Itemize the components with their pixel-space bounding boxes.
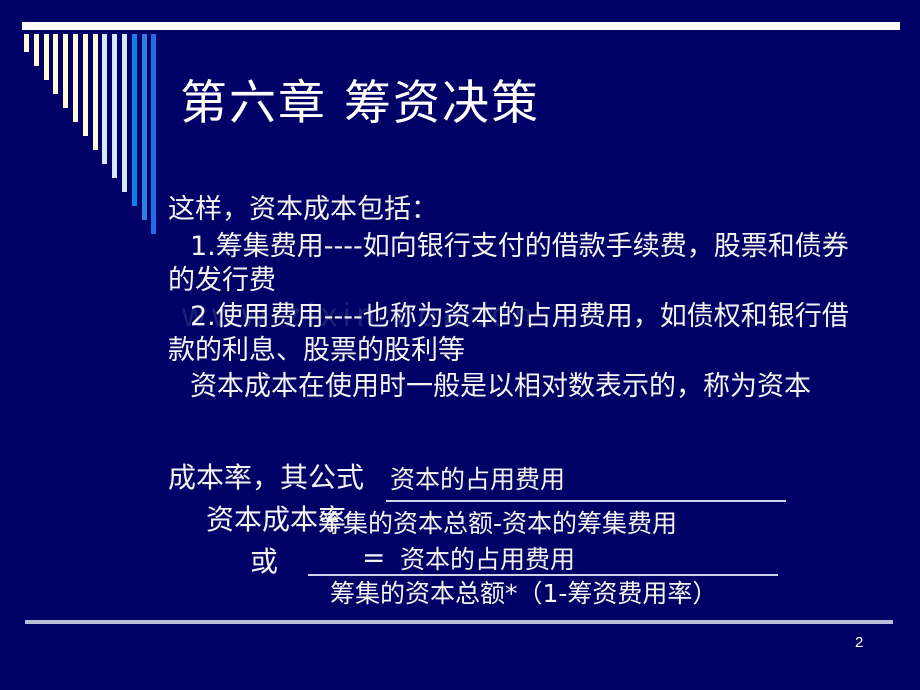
- formula-2-fraction-rule: [308, 574, 778, 576]
- decorative-bar: [53, 34, 58, 94]
- decorative-bar: [93, 34, 98, 150]
- bottom-divider-rule: [25, 620, 893, 624]
- formula-or-label: 或: [250, 546, 278, 578]
- body-item-3: 资本成本在使用时一般是以相对数表示的，称为资本: [168, 370, 868, 404]
- body-item-2: 2.使用费用----也称为资本的占用费用，如债权和银行借款的利息、股票的股利等: [168, 300, 868, 368]
- body-lead-line: 这样，资本成本包括：: [168, 192, 868, 228]
- slide-canvas: 第六章 筹资决策 www.zixin.com.cn 这样，资本成本包括： 1.筹…: [0, 0, 920, 690]
- formula-region: 成本率，其公式 资本的占用费用 资本成本率 筹集的资本总额-资本的筹集费用 或 …: [168, 462, 908, 622]
- decorative-bar: [34, 34, 39, 66]
- formula-1-numerator: 资本的占用费用: [390, 464, 565, 496]
- page-number: 2: [855, 634, 863, 651]
- formula-2-numerator: 资本的占用费用: [400, 544, 575, 576]
- slide-body: 这样，资本成本包括： 1.筹集费用----如向银行支付的借款手续费，股票和债券的…: [168, 192, 868, 404]
- formula-prefix-text: 成本率，其公式: [168, 462, 364, 494]
- decorative-bar: [24, 34, 29, 52]
- decorative-bar: [132, 34, 137, 206]
- decorative-bar: [102, 34, 107, 164]
- decorative-bar: [122, 34, 127, 192]
- formula-1-fraction-rule: [386, 500, 786, 502]
- formula-1-denominator: 筹集的资本总额-资本的筹集费用: [318, 508, 677, 540]
- decorative-bar: [151, 34, 156, 234]
- decorative-bar: [112, 34, 117, 178]
- formula-equals-sign: =: [362, 542, 385, 574]
- decorative-bar: [63, 34, 68, 108]
- decorative-bar: [73, 34, 78, 122]
- slide-title: 第六章 筹资决策: [180, 78, 540, 130]
- decorative-bar: [142, 34, 147, 220]
- decorative-bar: [44, 34, 49, 80]
- formula-2-denominator: 筹集的资本总额*（1-筹资费用率）: [330, 578, 717, 610]
- top-divider-rule: [22, 22, 900, 30]
- decorative-bar: [83, 34, 88, 136]
- body-item-1: 1.筹集费用----如向银行支付的借款手续费，股票和债券的发行费: [168, 230, 868, 298]
- decorative-bar-graphic: [0, 34, 170, 194]
